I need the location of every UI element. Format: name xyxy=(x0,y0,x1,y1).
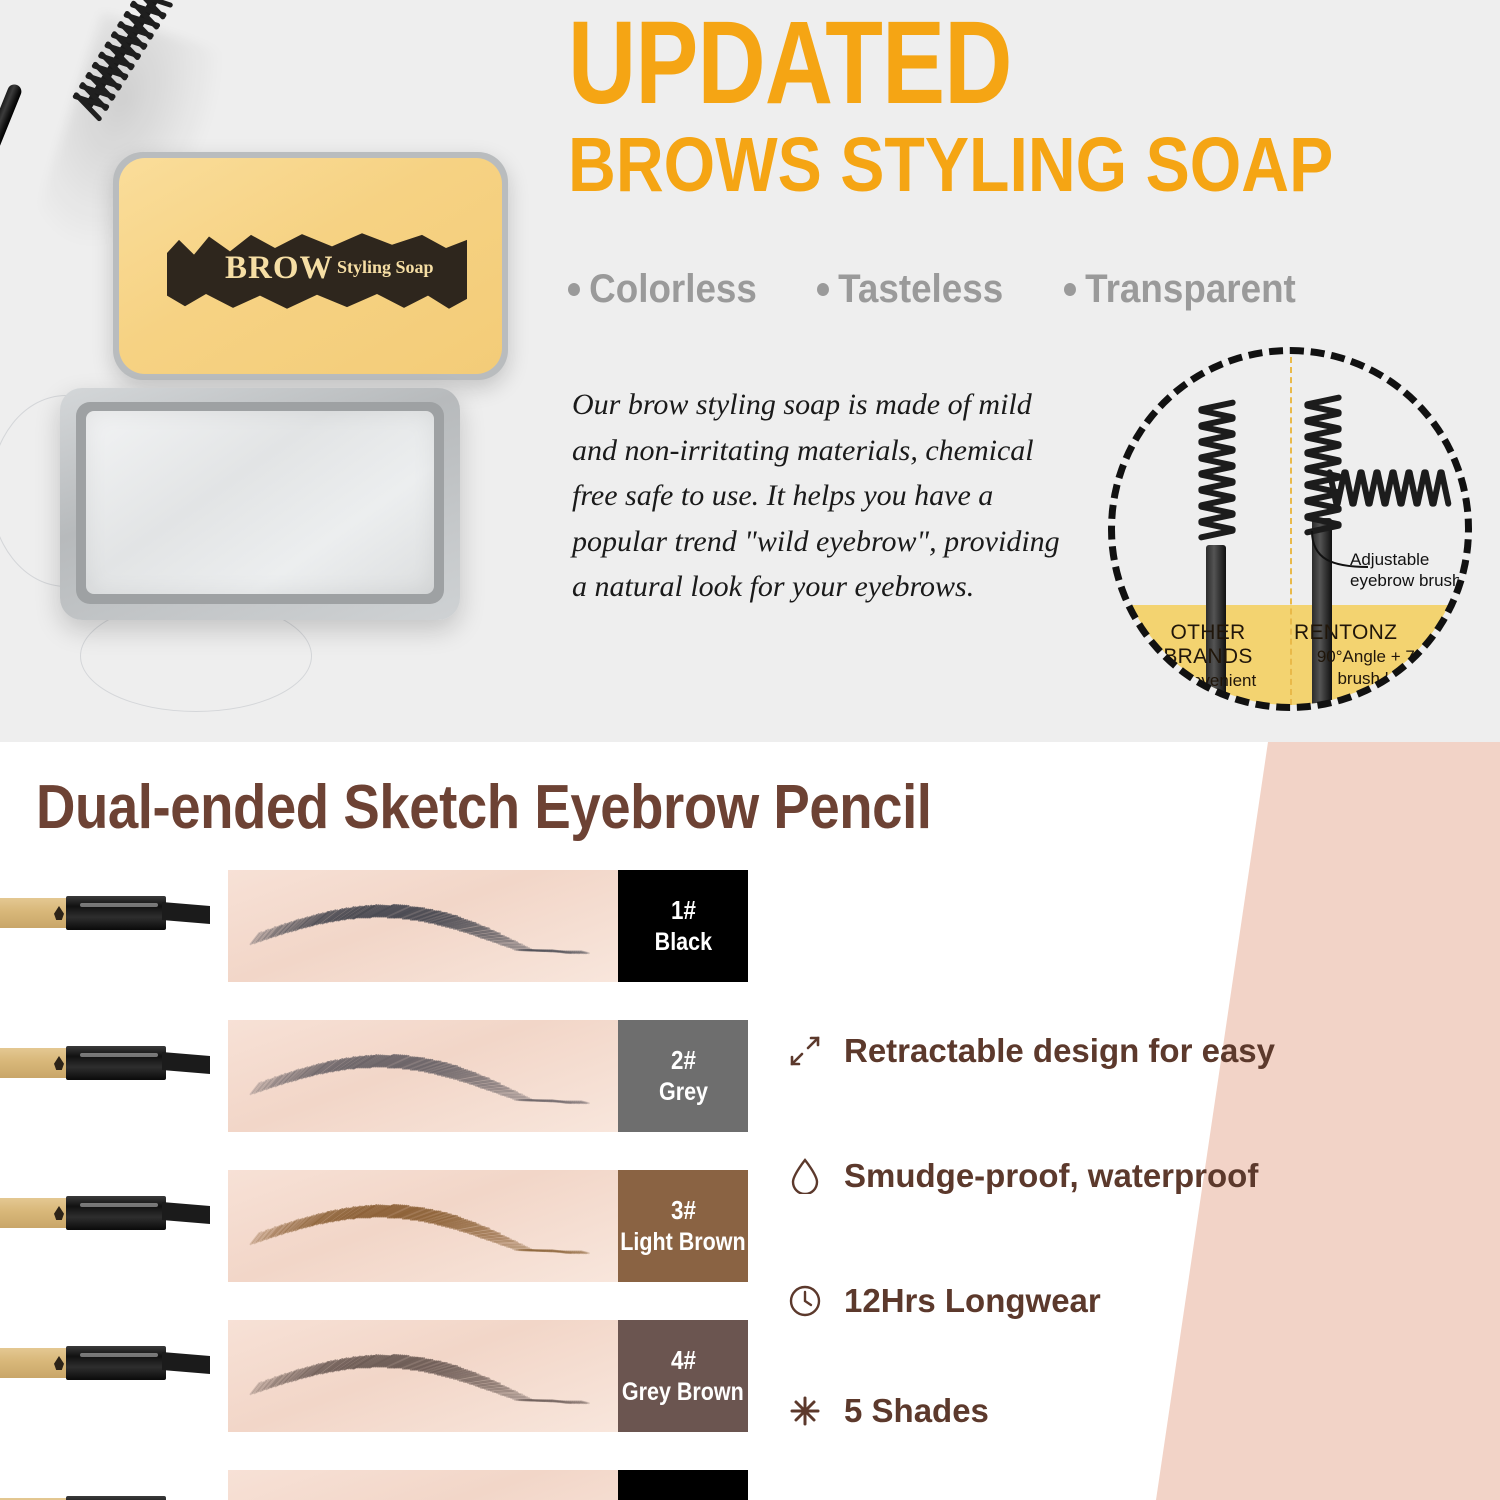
shade-swatch-row: 4#Grey Brown xyxy=(228,1320,748,1432)
shade-swatch-row: 3#Light Brown xyxy=(228,1170,748,1282)
shade-swatch-row: 5#Dark Brown xyxy=(228,1470,748,1500)
pencil-item xyxy=(0,1490,209,1500)
shade-chip: 1#Black xyxy=(618,870,748,982)
shade-number: 5# xyxy=(671,1495,696,1500)
pencil-item xyxy=(0,890,209,936)
feature-waterproof: Smudge-proof, waterproof xyxy=(786,1157,1258,1195)
brand-label: BROW Styling Soap xyxy=(167,230,467,312)
comparison-dashed-ring xyxy=(1108,347,1472,711)
product-description: Our brow styling soap is made of mild an… xyxy=(572,382,1070,610)
soap-section: /*bristles injected below*/ BROW Styling… xyxy=(0,0,1500,742)
brow-shape xyxy=(250,1190,596,1264)
bullet-colorless: Colorless xyxy=(568,267,757,312)
pencil-angled-tip-icon xyxy=(162,902,210,924)
shade-name: Black xyxy=(654,928,711,957)
bullet-label: Colorless xyxy=(589,267,757,312)
pencil-black-body xyxy=(66,1346,166,1380)
shade-chip: 4#Grey Brown xyxy=(618,1320,748,1432)
bullet-tasteless: Tasteless xyxy=(817,267,1003,312)
bullet-dot-icon xyxy=(1064,283,1076,296)
water-drop-icon xyxy=(786,1157,824,1195)
arrows-expand-icon xyxy=(786,1032,824,1070)
pencil-gold-barrel xyxy=(0,1198,72,1228)
bullet-dot-icon xyxy=(568,283,580,296)
brow-preview-image xyxy=(228,1170,618,1282)
soap-tin-closed: BROW Styling Soap xyxy=(113,152,508,380)
pencil-angled-tip-icon xyxy=(162,1352,210,1374)
pencil-section: Dual-ended Sketch Eyebrow Pencil 1#Black… xyxy=(0,742,1500,1500)
flower-icon xyxy=(786,1392,824,1430)
headline-product: BROWS STYLING SOAP xyxy=(568,127,1333,204)
brow-preview-image xyxy=(228,1020,618,1132)
headline-block: UPDATED BROWS STYLING SOAP xyxy=(568,8,1458,204)
feature-label: Smudge-proof, waterproof xyxy=(844,1157,1258,1195)
brow-shape xyxy=(250,890,596,964)
pencil-angled-tip-icon xyxy=(162,1202,210,1224)
pencil-gold-barrel xyxy=(0,1348,72,1378)
brow-preview-image xyxy=(228,870,618,982)
brow-preview-image xyxy=(228,1470,618,1500)
shade-number: 4# xyxy=(671,1345,696,1376)
shade-name: Grey xyxy=(658,1078,707,1107)
shade-chip: 5#Dark Brown xyxy=(618,1470,748,1500)
brow-shape xyxy=(250,1040,596,1114)
shade-name: Light Brown xyxy=(620,1228,745,1257)
bullet-label: Tasteless xyxy=(838,267,1003,312)
wand-brush-head-icon: /*bristles injected below*/ xyxy=(74,0,168,116)
pencil-gold-barrel xyxy=(0,1048,72,1078)
pencil-item xyxy=(0,1190,209,1236)
bullet-label: Transparent xyxy=(1085,267,1296,312)
pencil-black-body xyxy=(66,1496,166,1500)
pink-background-panel xyxy=(1100,742,1500,1500)
brand-name-secondary: Styling Soap xyxy=(337,257,434,278)
brow-shape xyxy=(250,1490,596,1500)
shade-number: 3# xyxy=(671,1195,696,1226)
product-infographic: /*bristles injected below*/ BROW Styling… xyxy=(0,0,1500,1500)
feature-label: Retractable design for easy xyxy=(844,1032,1275,1070)
shade-chip: 3#Light Brown xyxy=(618,1170,748,1282)
brand-name-primary: BROW xyxy=(225,250,334,287)
bullet-dot-icon xyxy=(817,283,829,296)
feature-shades: 5 Shades xyxy=(786,1392,989,1430)
bullet-transparent: Transparent xyxy=(1064,267,1296,312)
headline-updated: UPDATED xyxy=(568,8,1280,119)
shade-swatch-row: 2#Grey xyxy=(228,1020,748,1132)
pencil-black-body xyxy=(66,1046,166,1080)
pencil-black-body xyxy=(66,1196,166,1230)
feature-bullets: Colorless Tasteless Transparent xyxy=(568,267,1458,312)
clock-icon xyxy=(786,1282,824,1320)
brush-comparison-diagram: Adjustable eyebrow brush OTHER BRANDS In… xyxy=(1108,347,1472,711)
feature-label: 12Hrs Longwear xyxy=(844,1282,1101,1320)
pencil-angled-tip-icon xyxy=(162,1052,210,1074)
shade-number: 2# xyxy=(671,1045,696,1076)
shade-name: Grey Brown xyxy=(622,1378,744,1407)
wand-handle-icon xyxy=(0,82,23,365)
soap-bar xyxy=(86,411,434,594)
pencil-item xyxy=(0,1340,209,1386)
shade-number: 1# xyxy=(671,895,696,926)
soap-tin-open xyxy=(60,388,460,620)
pencil-gold-barrel xyxy=(0,898,72,928)
shade-chip: 2#Grey xyxy=(618,1020,748,1132)
pencil-item xyxy=(0,1040,209,1086)
feature-retractable: Retractable design for easy xyxy=(786,1032,1275,1070)
pencil-black-body xyxy=(66,896,166,930)
brow-shape xyxy=(250,1340,596,1414)
section-title: Dual-ended Sketch Eyebrow Pencil xyxy=(36,772,932,843)
shade-swatch-row: 1#Black xyxy=(228,870,748,982)
feature-label: 5 Shades xyxy=(844,1392,989,1430)
brow-preview-image xyxy=(228,1320,618,1432)
feature-longwear: 12Hrs Longwear xyxy=(786,1282,1101,1320)
